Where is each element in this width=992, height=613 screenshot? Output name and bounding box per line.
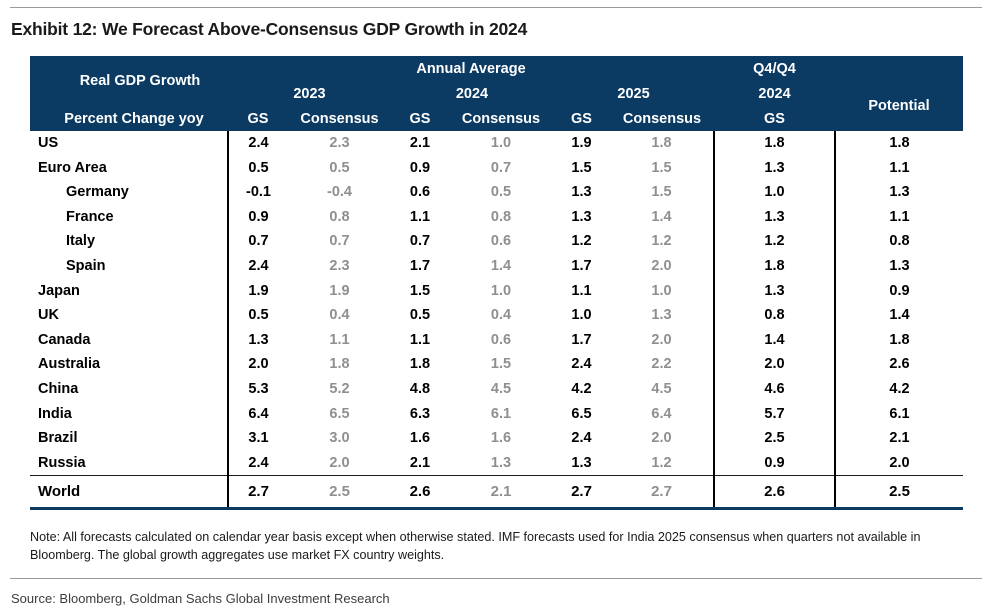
cell-2024-consensus: 4.5 xyxy=(449,377,553,402)
table-row: US2.42.32.11.01.91.81.81.8 xyxy=(30,131,963,156)
cell-2024-consensus: 6.1 xyxy=(449,402,553,427)
source-line: Source: Bloomberg, Goldman Sachs Global … xyxy=(11,591,390,606)
cell-2024-consensus: 0.6 xyxy=(449,229,553,254)
cell-q4q4-2024-gs: 2.5 xyxy=(714,426,835,451)
cell-2023-consensus: 0.4 xyxy=(288,303,391,328)
cell-2025-gs: 4.2 xyxy=(553,377,610,402)
header-potential: Potential xyxy=(835,81,963,131)
cell-potential-gs: 1.8 xyxy=(835,328,963,353)
cell-2024-consensus: 1.0 xyxy=(449,131,553,156)
row-label-australia: Australia xyxy=(30,352,228,377)
cell-potential-gs: 2.0 xyxy=(835,451,963,476)
cell-2025-consensus: 6.4 xyxy=(610,402,714,427)
cell-2023-gs: 2.4 xyxy=(228,131,288,156)
row-label-russia: Russia xyxy=(30,451,228,476)
table-row: Russia2.42.02.11.31.31.20.92.0 xyxy=(30,451,963,476)
table-row: Germany-0.1-0.40.60.51.31.51.01.3 xyxy=(30,180,963,205)
cell-2024-gs: 0.9 xyxy=(391,156,449,181)
cell-2025-gs: 6.5 xyxy=(553,402,610,427)
cell-q4q4-2024-gs: 0.8 xyxy=(714,303,835,328)
cell-2023-consensus: 0.8 xyxy=(288,205,391,230)
cell-q4q4-2024-gs: 1.3 xyxy=(714,156,835,181)
cell-2023-gs: 6.4 xyxy=(228,402,288,427)
table-row: Canada1.31.11.10.61.72.01.41.8 xyxy=(30,328,963,353)
cell-2025-consensus: 2.2 xyxy=(610,352,714,377)
table-row: Italy0.70.70.70.61.21.21.20.8 xyxy=(30,229,963,254)
cell-2024-gs: 4.8 xyxy=(391,377,449,402)
cell-2025-consensus: 1.2 xyxy=(610,229,714,254)
cell-2024-gs: 2.1 xyxy=(391,131,449,156)
cell-2024-gs: 2.6 xyxy=(391,476,449,508)
header-2025-gs: GS xyxy=(553,106,610,131)
table-row: Japan1.91.91.51.01.11.01.30.9 xyxy=(30,279,963,304)
cell-2025-gs: 1.9 xyxy=(553,131,610,156)
header-2024-gs: GS xyxy=(391,106,449,131)
cell-q4q4-2024-gs: 1.2 xyxy=(714,229,835,254)
table-note: Note: All forecasts calculated on calend… xyxy=(30,528,965,564)
cell-q4q4-2024-gs: 1.8 xyxy=(714,254,835,279)
row-label-china: China xyxy=(30,377,228,402)
row-label-us: US xyxy=(30,131,228,156)
cell-2023-gs: -0.1 xyxy=(228,180,288,205)
cell-2023-consensus: 1.9 xyxy=(288,279,391,304)
cell-2023-gs: 1.3 xyxy=(228,328,288,353)
header-2023-consensus: Consensus xyxy=(288,106,391,131)
cell-q4q4-2024-gs: 1.4 xyxy=(714,328,835,353)
header-real-gdp-growth: Real GDP Growth xyxy=(30,56,228,106)
row-label-spain: Spain xyxy=(30,254,228,279)
cell-2024-consensus: 2.1 xyxy=(449,476,553,508)
cell-2023-consensus: 0.7 xyxy=(288,229,391,254)
cell-q4q4-2024-gs: 4.6 xyxy=(714,377,835,402)
row-label-italy: Italy xyxy=(30,229,228,254)
cell-q4q4-2024-gs: 1.0 xyxy=(714,180,835,205)
cell-2025-gs: 1.2 xyxy=(553,229,610,254)
top-divider-rule xyxy=(10,7,982,8)
table-header: Real GDP Growth Annual Average Q4/Q4 202… xyxy=(30,56,963,131)
row-label-canada: Canada xyxy=(30,328,228,353)
cell-2025-gs: 2.4 xyxy=(553,352,610,377)
cell-2023-gs: 2.4 xyxy=(228,451,288,476)
gdp-forecast-table-wrapper: Real GDP Growth Annual Average Q4/Q4 202… xyxy=(30,56,963,507)
cell-2024-gs: 1.1 xyxy=(391,328,449,353)
cell-potential-gs: 1.1 xyxy=(835,205,963,230)
cell-2024-consensus: 1.4 xyxy=(449,254,553,279)
cell-2025-gs: 1.3 xyxy=(553,205,610,230)
cell-2023-gs: 3.1 xyxy=(228,426,288,451)
cell-2025-gs: 1.3 xyxy=(553,180,610,205)
row-label-brazil: Brazil xyxy=(30,426,228,451)
cell-2023-consensus: 2.5 xyxy=(288,476,391,508)
cell-2023-consensus: 1.1 xyxy=(288,328,391,353)
cell-2024-gs: 0.7 xyxy=(391,229,449,254)
cell-2025-gs: 2.4 xyxy=(553,426,610,451)
cell-2025-gs: 1.5 xyxy=(553,156,610,181)
cell-potential-gs: 1.3 xyxy=(835,180,963,205)
cell-2025-consensus: 2.0 xyxy=(610,426,714,451)
cell-2024-consensus: 0.8 xyxy=(449,205,553,230)
cell-2023-gs: 2.7 xyxy=(228,476,288,508)
cell-potential-gs: 0.8 xyxy=(835,229,963,254)
cell-2025-consensus: 2.0 xyxy=(610,254,714,279)
header-year-2025: 2025 xyxy=(553,81,714,106)
table-row: Euro Area0.50.50.90.71.51.51.31.1 xyxy=(30,156,963,181)
header-row-groups: Real GDP Growth Annual Average Q4/Q4 xyxy=(30,56,963,81)
cell-2023-consensus: 5.2 xyxy=(288,377,391,402)
cell-2024-gs: 0.6 xyxy=(391,180,449,205)
cell-2025-consensus: 2.7 xyxy=(610,476,714,508)
cell-2024-consensus: 1.6 xyxy=(449,426,553,451)
table-row: India6.46.56.36.16.56.45.76.1 xyxy=(30,402,963,427)
cell-2025-consensus: 1.3 xyxy=(610,303,714,328)
row-label-japan: Japan xyxy=(30,279,228,304)
cell-2023-gs: 0.7 xyxy=(228,229,288,254)
header-year-2023: 2023 xyxy=(228,81,391,106)
cell-potential-gs: 1.4 xyxy=(835,303,963,328)
cell-2023-consensus: 2.3 xyxy=(288,131,391,156)
cell-q4q4-2024-gs: 1.3 xyxy=(714,279,835,304)
header-group-potential-spacer xyxy=(835,56,963,81)
cell-2025-gs: 1.0 xyxy=(553,303,610,328)
cell-2025-consensus: 2.0 xyxy=(610,328,714,353)
row-label-india: India xyxy=(30,402,228,427)
table-row: China5.35.24.84.54.24.54.64.2 xyxy=(30,377,963,402)
row-label-germany: Germany xyxy=(30,180,228,205)
cell-2024-consensus: 0.4 xyxy=(449,303,553,328)
cell-2024-gs: 1.8 xyxy=(391,352,449,377)
cell-2025-consensus: 1.0 xyxy=(610,279,714,304)
cell-2025-gs: 1.3 xyxy=(553,451,610,476)
cell-2023-consensus: 6.5 xyxy=(288,402,391,427)
header-row-subheaders: Percent Change yoy GS Consensus GS Conse… xyxy=(30,106,963,131)
cell-potential-gs: 0.9 xyxy=(835,279,963,304)
exhibit-title: Exhibit 12: We Forecast Above-Consensus … xyxy=(11,19,527,40)
cell-potential-gs: 4.2 xyxy=(835,377,963,402)
cell-potential-gs: 1.3 xyxy=(835,254,963,279)
cell-q4q4-2024-gs: 0.9 xyxy=(714,451,835,476)
cell-2024-gs: 6.3 xyxy=(391,402,449,427)
table-row: Australia2.01.81.81.52.42.22.02.6 xyxy=(30,352,963,377)
cell-2025-gs: 1.7 xyxy=(553,328,610,353)
cell-2024-consensus: 1.3 xyxy=(449,451,553,476)
cell-potential-gs: 2.6 xyxy=(835,352,963,377)
cell-2023-consensus: -0.4 xyxy=(288,180,391,205)
cell-2023-gs: 1.9 xyxy=(228,279,288,304)
cell-2025-gs: 1.1 xyxy=(553,279,610,304)
cell-2024-gs: 0.5 xyxy=(391,303,449,328)
cell-q4q4-2024-gs: 5.7 xyxy=(714,402,835,427)
table-bottom-rule xyxy=(30,507,963,510)
row-label-world: World xyxy=(30,476,228,508)
table-row: Spain2.42.31.71.41.72.01.81.3 xyxy=(30,254,963,279)
cell-2024-consensus: 1.5 xyxy=(449,352,553,377)
table-body: US2.42.32.11.01.91.81.81.8Euro Area0.50.… xyxy=(30,131,963,507)
cell-2024-gs: 1.1 xyxy=(391,205,449,230)
cell-2025-consensus: 1.4 xyxy=(610,205,714,230)
cell-2025-consensus: 4.5 xyxy=(610,377,714,402)
cell-2024-consensus: 0.6 xyxy=(449,328,553,353)
cell-2023-gs: 0.9 xyxy=(228,205,288,230)
header-q4q4-2024-gs: GS xyxy=(714,106,835,131)
cell-potential-gs: 1.1 xyxy=(835,156,963,181)
cell-2023-gs: 5.3 xyxy=(228,377,288,402)
table-row: Brazil3.13.01.61.62.42.02.52.1 xyxy=(30,426,963,451)
cell-2024-gs: 1.7 xyxy=(391,254,449,279)
cell-q4q4-2024-gs: 2.0 xyxy=(714,352,835,377)
cell-2023-consensus: 3.0 xyxy=(288,426,391,451)
header-percent-change-yoy: Percent Change yoy xyxy=(30,106,228,131)
header-group-q4q4: Q4/Q4 xyxy=(714,56,835,81)
cell-q4q4-2024-gs: 1.3 xyxy=(714,205,835,230)
footer-divider-rule xyxy=(10,578,982,579)
cell-2023-gs: 0.5 xyxy=(228,156,288,181)
cell-2023-gs: 2.0 xyxy=(228,352,288,377)
cell-2024-consensus: 0.5 xyxy=(449,180,553,205)
table-row-world: World2.72.52.62.12.72.72.62.5 xyxy=(30,476,963,508)
cell-2023-consensus: 1.8 xyxy=(288,352,391,377)
header-q4-year-2024: 2024 xyxy=(714,81,835,106)
cell-2025-consensus: 1.5 xyxy=(610,180,714,205)
cell-2024-gs: 2.1 xyxy=(391,451,449,476)
cell-2024-consensus: 1.0 xyxy=(449,279,553,304)
header-year-2024: 2024 xyxy=(391,81,553,106)
row-label-uk: UK xyxy=(30,303,228,328)
cell-potential-gs: 2.5 xyxy=(835,476,963,508)
cell-q4q4-2024-gs: 1.8 xyxy=(714,131,835,156)
cell-q4q4-2024-gs: 2.6 xyxy=(714,476,835,508)
cell-2025-consensus: 1.2 xyxy=(610,451,714,476)
cell-2024-consensus: 0.7 xyxy=(449,156,553,181)
cell-potential-gs: 6.1 xyxy=(835,402,963,427)
cell-potential-gs: 1.8 xyxy=(835,131,963,156)
cell-potential-gs: 2.1 xyxy=(835,426,963,451)
header-2025-consensus: Consensus xyxy=(610,106,714,131)
cell-2023-consensus: 2.0 xyxy=(288,451,391,476)
cell-2023-consensus: 0.5 xyxy=(288,156,391,181)
cell-2023-gs: 2.4 xyxy=(228,254,288,279)
cell-2023-gs: 0.5 xyxy=(228,303,288,328)
header-2023-gs: GS xyxy=(228,106,288,131)
cell-2025-gs: 1.7 xyxy=(553,254,610,279)
row-label-euro-area: Euro Area xyxy=(30,156,228,181)
table-row: UK0.50.40.50.41.01.30.81.4 xyxy=(30,303,963,328)
gdp-forecast-table: Real GDP Growth Annual Average Q4/Q4 202… xyxy=(30,56,963,507)
table-row: France0.90.81.10.81.31.41.31.1 xyxy=(30,205,963,230)
cell-2025-consensus: 1.5 xyxy=(610,156,714,181)
cell-2025-gs: 2.7 xyxy=(553,476,610,508)
row-label-france: France xyxy=(30,205,228,230)
cell-2025-consensus: 1.8 xyxy=(610,131,714,156)
header-2024-consensus: Consensus xyxy=(449,106,553,131)
cell-2023-consensus: 2.3 xyxy=(288,254,391,279)
cell-2024-gs: 1.6 xyxy=(391,426,449,451)
cell-2024-gs: 1.5 xyxy=(391,279,449,304)
header-group-annual-average: Annual Average xyxy=(228,56,714,81)
